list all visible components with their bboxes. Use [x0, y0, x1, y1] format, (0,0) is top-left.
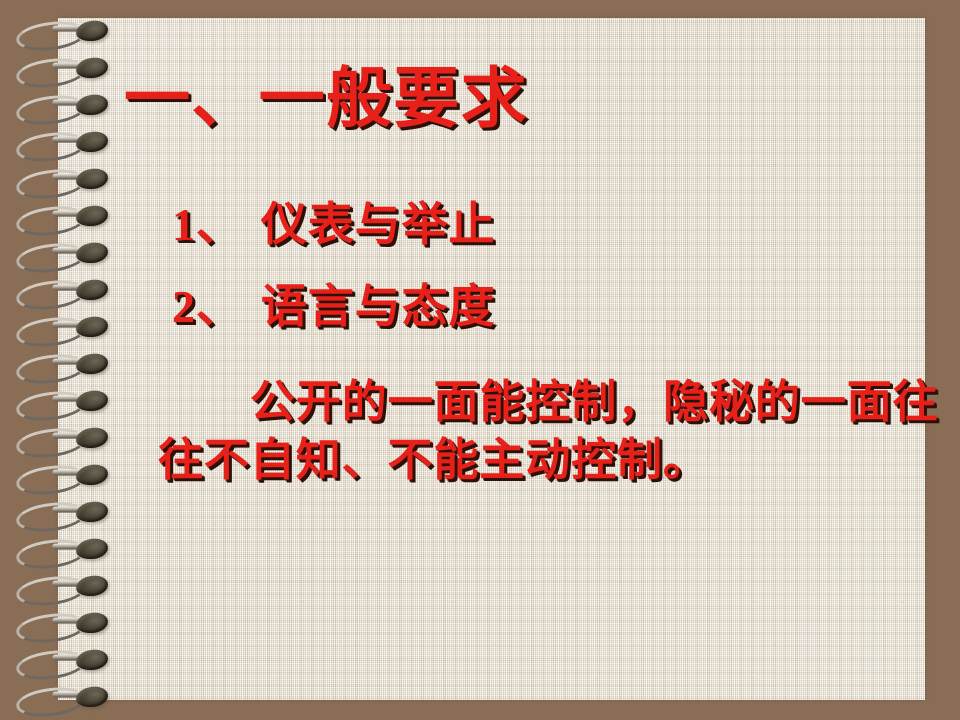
list-item-1-label: 仪表与举止	[261, 197, 496, 251]
slide-content: 一、一般要求 1、仪表与举止 2、语言与态度 公开的一面能控制，隐秘的一面往往不…	[110, 18, 930, 700]
slide-canvas: 一、一般要求 1、仪表与举止 2、语言与态度 公开的一面能控制，隐秘的一面往往不…	[0, 0, 960, 720]
list-item-1-number: 1、	[172, 199, 243, 250]
list-item-1: 1、仪表与举止	[172, 201, 495, 248]
body-paragraph: 公开的一面能控制，隐秘的一面往往不自知、不能主动控制。	[158, 373, 948, 488]
page-title: 一、一般要求	[124, 66, 528, 132]
list-item-2: 2、语言与态度	[172, 283, 495, 330]
list-item-2-number: 2、	[172, 281, 243, 332]
list-item-2-label: 语言与态度	[261, 279, 496, 333]
